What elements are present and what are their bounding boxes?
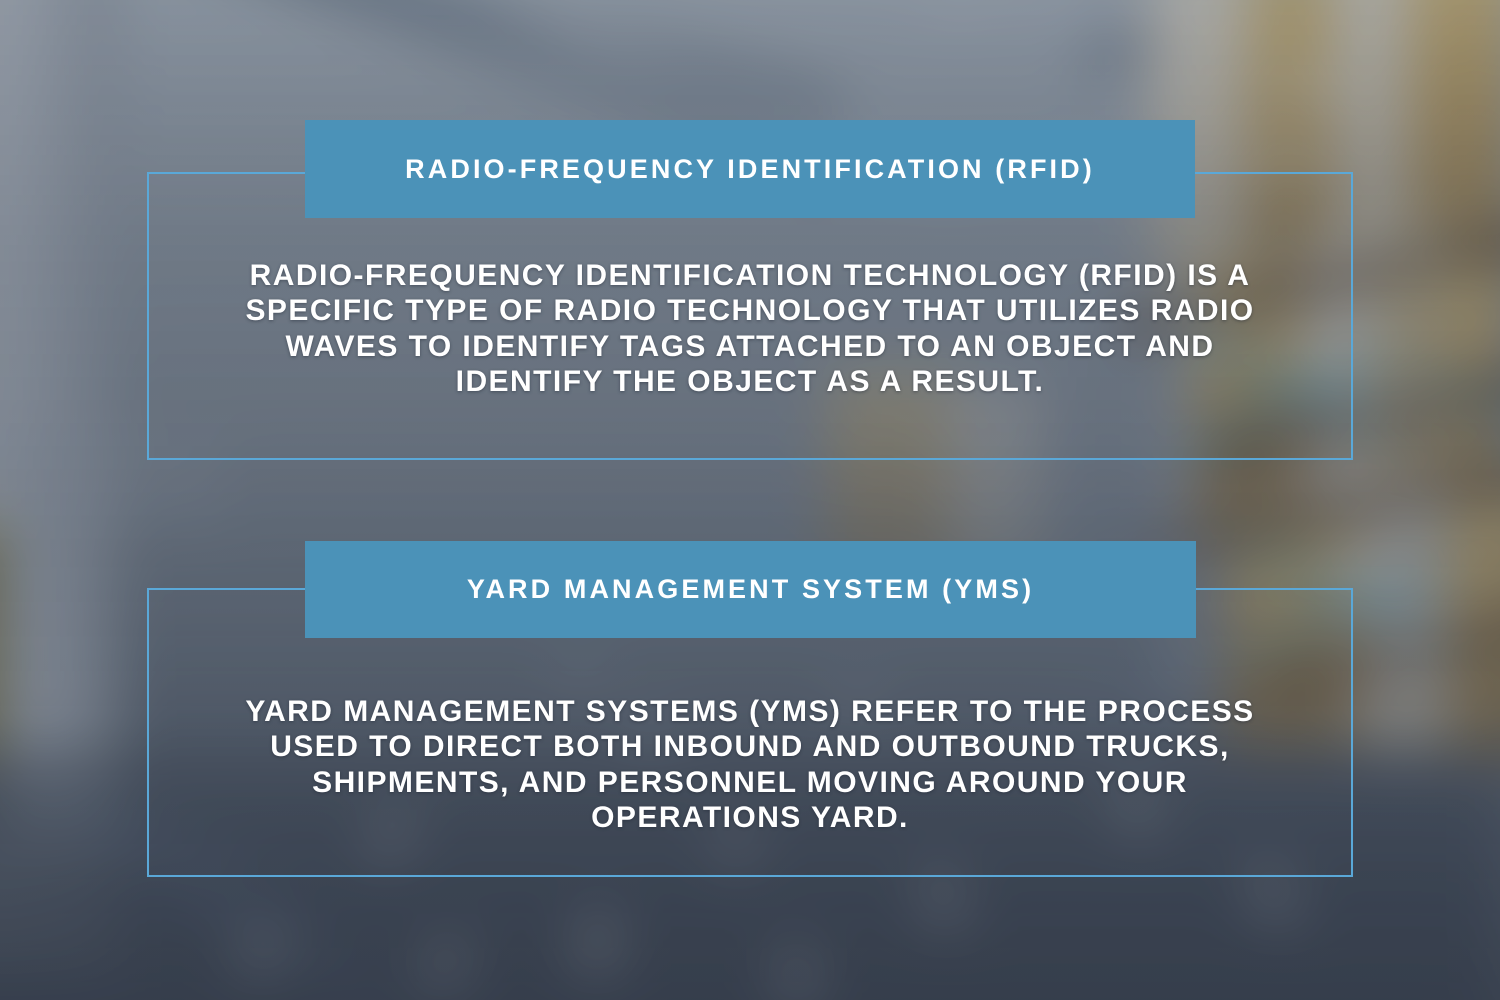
section-title-rfid: RADIO-FREQUENCY IDENTIFICATION (RFID) bbox=[405, 154, 1095, 185]
section-banner-rfid: RADIO-FREQUENCY IDENTIFICATION (RFID) bbox=[305, 120, 1195, 218]
section-body-yms: YARD MANAGEMENT SYSTEMS (YMS) REFER TO T… bbox=[210, 694, 1290, 836]
infographic-canvas: RADIO-FREQUENCY IDENTIFICATION (RFID) RA… bbox=[0, 0, 1500, 1000]
section-body-rfid: RADIO-FREQUENCY IDENTIFICATION TECHNOLOG… bbox=[210, 258, 1290, 400]
section-title-yms: YARD MANAGEMENT SYSTEM (YMS) bbox=[467, 574, 1034, 605]
section-banner-yms: YARD MANAGEMENT SYSTEM (YMS) bbox=[305, 541, 1196, 638]
